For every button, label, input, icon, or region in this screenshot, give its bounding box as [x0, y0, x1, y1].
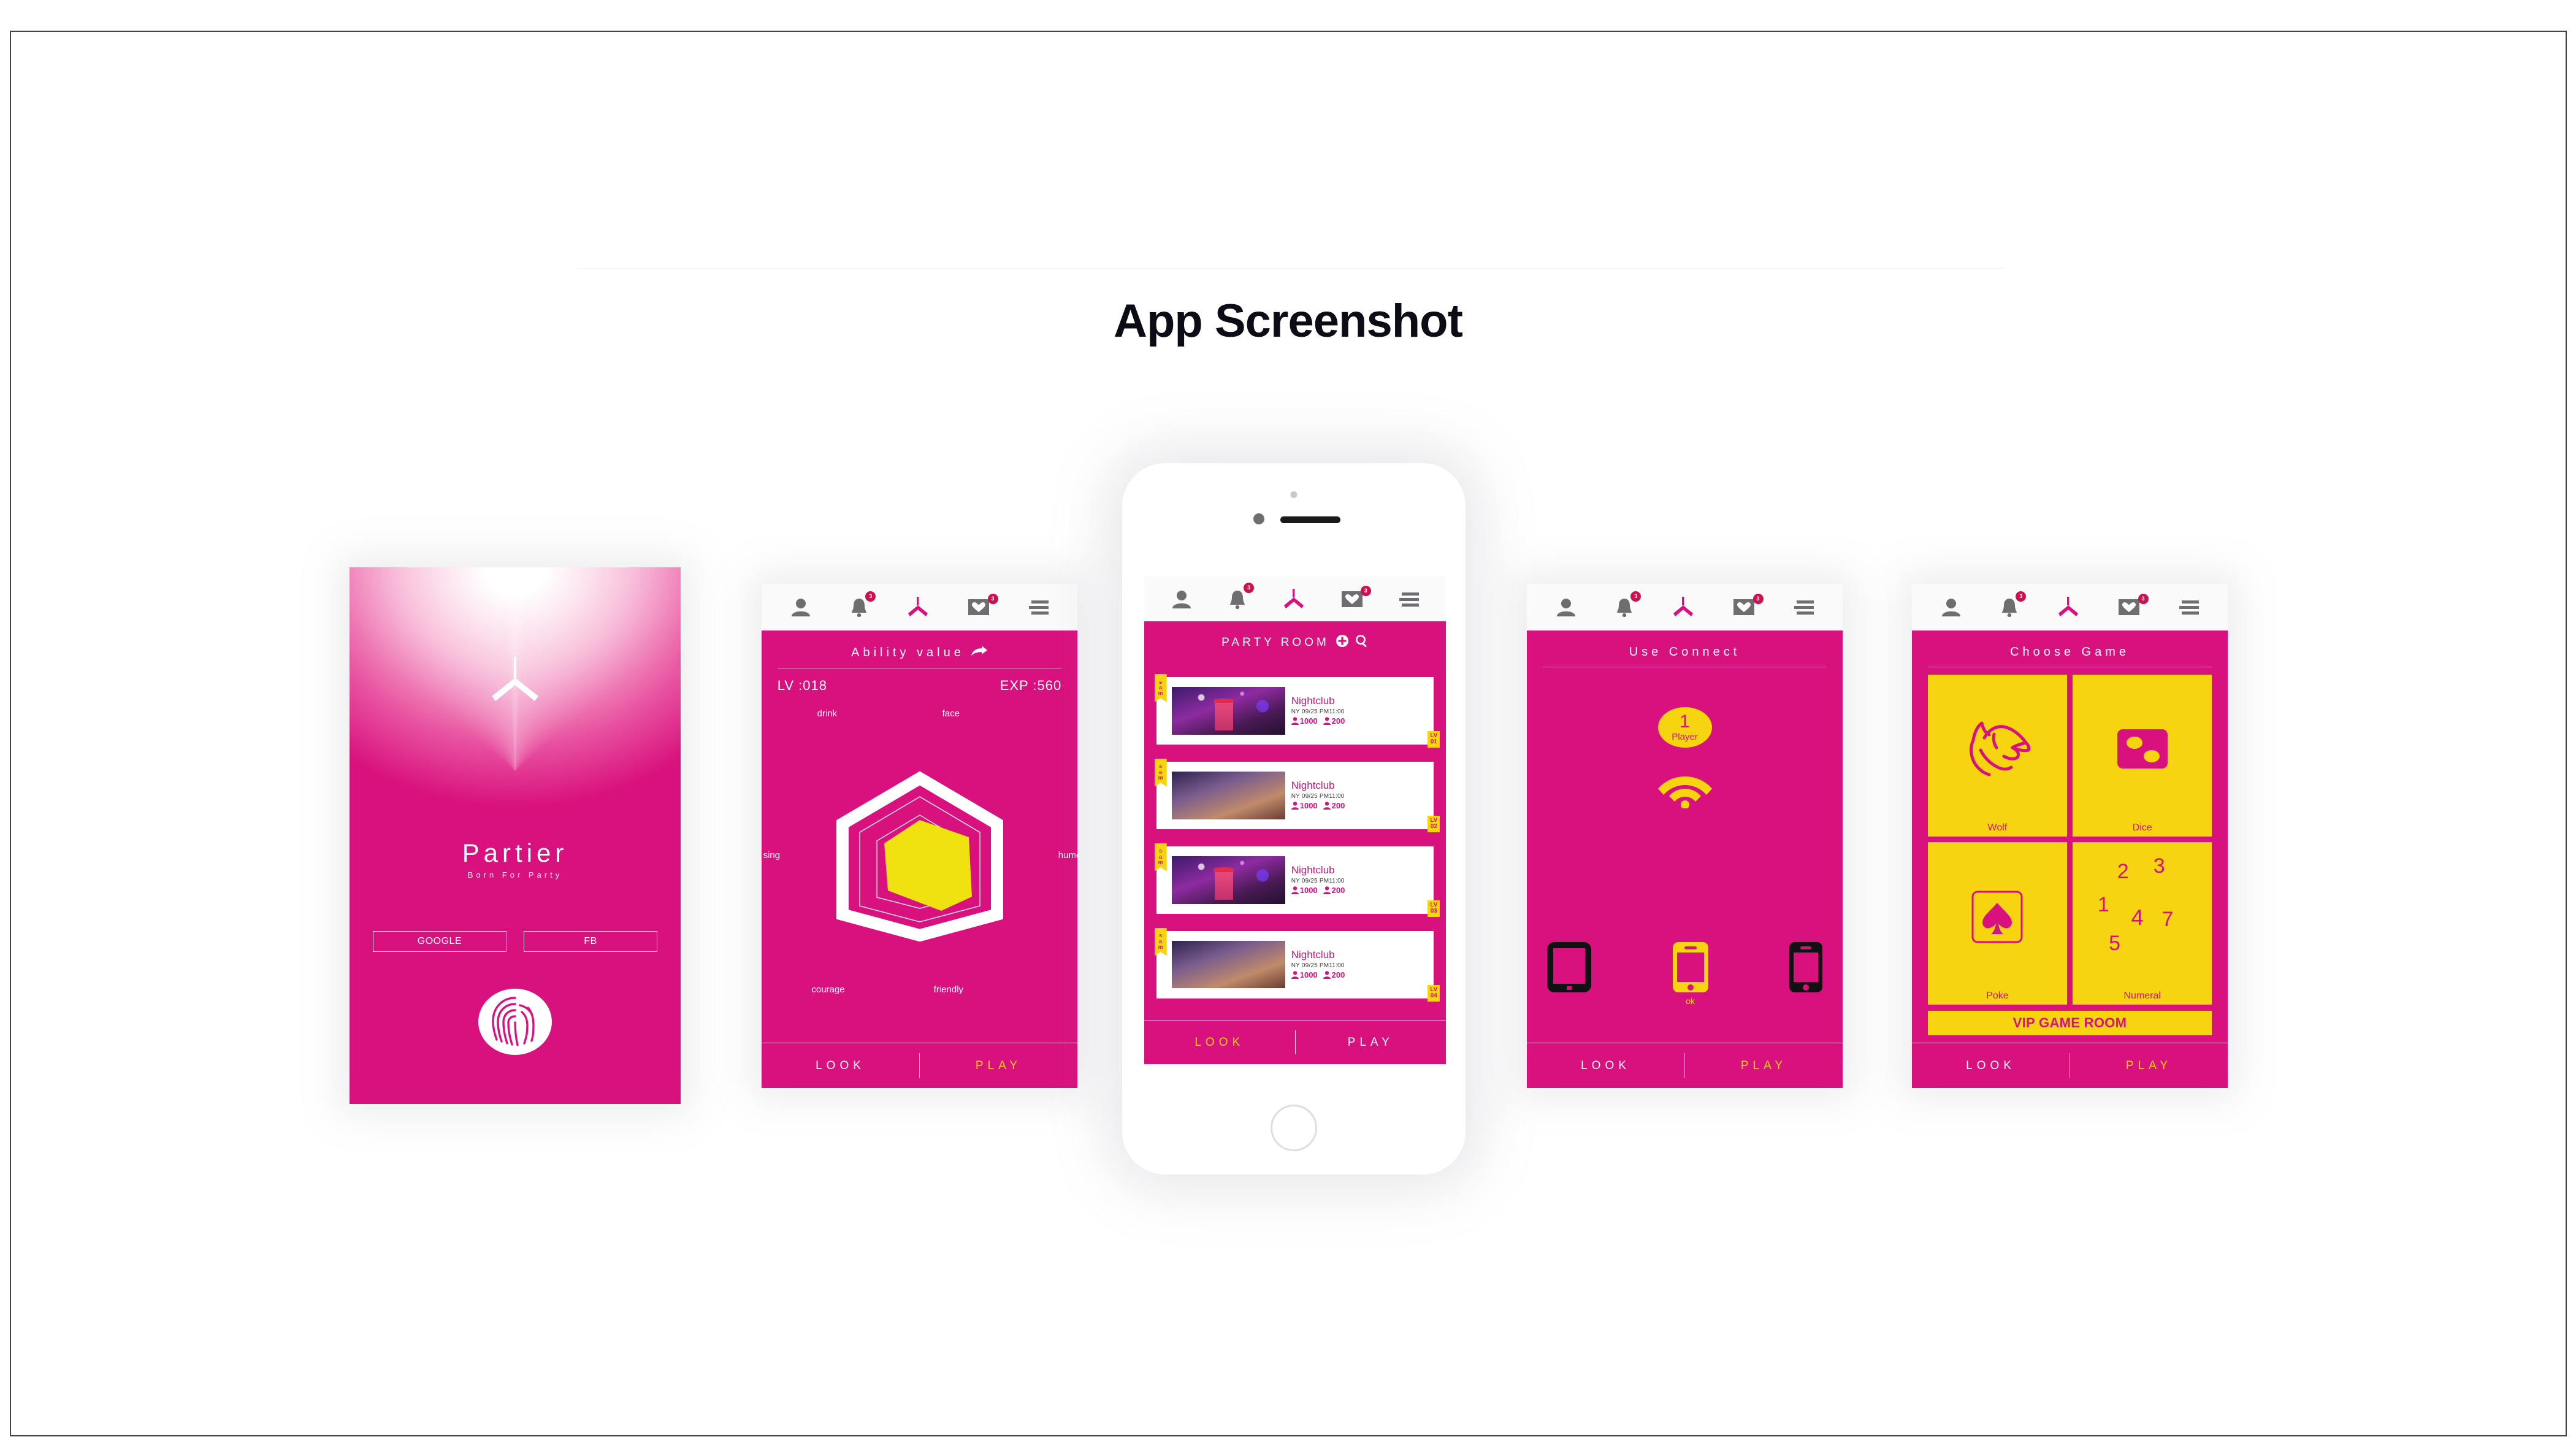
player-count-bubble: 1 Player: [1658, 707, 1712, 748]
partier-logo-icon[interactable]: [2057, 597, 2080, 618]
room-name: Nightclub: [1291, 949, 1434, 961]
bottom-action-bar: LOOK PLAY: [762, 1043, 1077, 1088]
room-joined: 200: [1323, 970, 1345, 979]
room-info: Nightclub NY 09/25 PM11:00 1000 200: [1285, 696, 1434, 726]
level-number: 02: [1430, 824, 1437, 830]
room-level-tag: LV 04: [1428, 985, 1440, 1002]
radar-svg: [816, 765, 1024, 949]
joined-value: 200: [1332, 886, 1345, 895]
hamburger-menu-icon[interactable]: [1028, 599, 1049, 615]
page-heading: PARTY ROOM: [1221, 636, 1329, 650]
ribbon-l3: m: [1158, 691, 1163, 696]
game-tile-dice[interactable]: Dice: [2073, 675, 2212, 837]
bottom-action-bar: LOOK PLAY: [1912, 1043, 2228, 1088]
room-joined: 200: [1323, 716, 1345, 726]
device-option-tablet[interactable]: [1546, 941, 1592, 1006]
profile-icon[interactable]: [1171, 590, 1192, 608]
bell-icon[interactable]: 3: [1615, 597, 1634, 617]
room-name: Nightclub: [1291, 696, 1434, 707]
room-stats: 1000 200: [1291, 886, 1434, 895]
device-label: [1805, 996, 1807, 1006]
use-connect-title: Use Connect: [1543, 642, 1827, 664]
message-badge: 3: [1361, 586, 1371, 596]
message-badge: 3: [2138, 594, 2149, 604]
phone-screen-login: Partier Born For Party GOOGLE FB: [350, 567, 681, 1104]
tablet-icon: [1546, 941, 1592, 994]
party-room-card[interactable]: sam Nightclub NY 09/25 PM11:00 1000: [1156, 762, 1434, 829]
phone-icon: [1788, 941, 1824, 994]
game-label: Numeral: [2123, 991, 2160, 1002]
use-connect-screen: 3 3 Use Connect 1 Player: [1527, 584, 1843, 1088]
room-capacity: 1000: [1291, 716, 1318, 726]
profile-icon[interactable]: [1941, 598, 1962, 616]
party-room-title-row: PARTY ROOM: [1156, 631, 1434, 656]
party-room-screen: 3 3 PARTY ROOM: [1144, 577, 1446, 1064]
person-icon: [1291, 886, 1299, 894]
top-nav-bar: 3 3: [1144, 577, 1446, 621]
play-button[interactable]: PLAY: [1296, 1036, 1447, 1049]
device-ok-label: ok: [1686, 996, 1695, 1006]
earpiece-speaker: [1280, 516, 1340, 523]
numeral-7: 7: [2161, 908, 2173, 932]
choose-game-body: Choose Game: [1912, 631, 2228, 1043]
ability-body: Ability value LV :018 EXP :560 drink fac…: [762, 631, 1077, 1043]
room-thumbnail: [1172, 772, 1285, 819]
person-icon: [1323, 886, 1331, 894]
message-heart-icon[interactable]: 3: [1733, 599, 1754, 615]
game-label: Dice: [2133, 823, 2152, 834]
bell-icon[interactable]: 3: [2000, 597, 2019, 617]
person-icon: [1323, 802, 1331, 810]
phone-screen-choose-game: 3 3 Choose Game: [1912, 584, 2228, 1088]
search-icon[interactable]: [1355, 634, 1369, 651]
game-tile-numeral[interactable]: 1 2 3 4 5 7 Numeral: [2073, 842, 2212, 1005]
google-login-button[interactable]: GOOGLE: [373, 931, 506, 952]
phone-icon: [1672, 941, 1710, 994]
choose-game-title: Choose Game: [1928, 642, 2212, 664]
radar-label-friendly: friendly: [934, 984, 963, 995]
title-divider: [778, 669, 1062, 669]
use-connect-body: Use Connect 1 Player: [1527, 631, 1843, 1043]
room-info: Nightclub NY 09/25 PM11:00 1000 200: [1285, 865, 1434, 895]
look-button[interactable]: LOOK: [762, 1059, 919, 1073]
brand-tagline: Born For Party: [350, 870, 681, 880]
sam-ribbon: sam: [1155, 843, 1167, 872]
plus-circle-icon[interactable]: [1336, 634, 1349, 651]
room-capacity: 1000: [1291, 970, 1318, 979]
capacity-value: 1000: [1300, 886, 1318, 895]
phone-screen-party-room: 3 3 PARTY ROOM: [1144, 577, 1446, 1064]
sam-ribbon: sam: [1155, 674, 1167, 702]
share-arrow-icon[interactable]: [971, 645, 988, 661]
top-nav-bar: 3 3: [762, 584, 1077, 631]
oauth-buttons: GOOGLE FB: [373, 931, 657, 952]
person-icon: [1291, 971, 1299, 979]
game-tile-poke[interactable]: Poke: [1928, 842, 2067, 1005]
fingerprint-icon[interactable]: [476, 983, 554, 1064]
bell-badge: 3: [2016, 591, 2026, 602]
bell-badge: 3: [1244, 583, 1254, 593]
ability-title-row: Ability value: [778, 642, 1062, 666]
radar-label-drink: drink: [817, 708, 838, 719]
room-thumbnail: [1172, 856, 1285, 904]
numeral-1: 1: [2098, 893, 2109, 917]
device-option-phone-selected[interactable]: ok: [1672, 941, 1710, 1006]
ability-radar-chart: drink face sing humor courage friendly: [778, 699, 1062, 1043]
spade-card-icon: [1928, 842, 2067, 991]
room-capacity: 1000: [1291, 886, 1318, 895]
look-button[interactable]: LOOK: [1144, 1036, 1295, 1049]
room-name: Nightclub: [1291, 780, 1434, 792]
room-meta: NY 09/25 PM11:00: [1291, 708, 1434, 715]
ability-screen: 3 3 Ability value LV :018: [762, 584, 1077, 1088]
room-capacity: 1000: [1291, 801, 1318, 810]
page-heading: Ability value: [851, 646, 965, 660]
room-name: Nightclub: [1291, 865, 1434, 876]
party-room-card[interactable]: sam Nightclub NY 09/25 PM11:00 1000: [1156, 677, 1434, 745]
message-heart-icon[interactable]: 3: [968, 599, 989, 615]
profile-icon[interactable]: [790, 598, 811, 616]
room-stats: 1000 200: [1291, 716, 1434, 726]
player-label: Player: [1672, 732, 1698, 742]
sam-ribbon: sam: [1155, 759, 1167, 787]
level-row: LV :018 EXP :560: [778, 678, 1062, 694]
game-tile-wolf[interactable]: Wolf: [1928, 675, 2067, 837]
room-meta: NY 09/25 PM11:00: [1291, 878, 1434, 884]
play-button[interactable]: PLAY: [2070, 1059, 2228, 1073]
message-heart-icon[interactable]: 3: [2119, 599, 2139, 615]
partier-logo-icon[interactable]: [906, 597, 930, 618]
exp-value: EXP :560: [1000, 678, 1062, 694]
person-icon: [1291, 717, 1299, 725]
title-divider: [1543, 667, 1827, 667]
partier-logo-icon: [487, 653, 543, 713]
person-icon: [1323, 971, 1331, 979]
wolf-head-icon: [1928, 675, 2067, 824]
bell-badge: 3: [865, 591, 876, 602]
title-divider: [1928, 667, 2212, 667]
party-room-list: sam Nightclub NY 09/25 PM11:00 1000: [1156, 656, 1434, 1021]
radar-label-sing: sing: [763, 850, 781, 860]
partier-logo-icon[interactable]: [1282, 589, 1305, 610]
player-count: 1: [1680, 713, 1690, 731]
dice-icon: [2073, 675, 2212, 824]
capacity-value: 1000: [1300, 801, 1318, 810]
room-thumbnail: [1172, 687, 1285, 735]
proximity-sensor-icon: [1253, 513, 1264, 524]
brand-name: Partier: [350, 838, 681, 868]
person-icon: [1323, 717, 1331, 725]
vip-game-room-button[interactable]: VIP GAME ROOM: [1928, 1011, 2212, 1035]
hamburger-menu-icon[interactable]: [1793, 599, 1814, 615]
wifi-icon: [1657, 770, 1713, 811]
room-level-tag: LV 01: [1428, 731, 1440, 748]
room-level-tag: LV 02: [1428, 816, 1440, 832]
game-label: Poke: [1986, 991, 2008, 1002]
device-selector: ok: [1546, 941, 1824, 1006]
capacity-value: 1000: [1300, 716, 1318, 726]
joined-value: 200: [1332, 970, 1345, 979]
front-camera-icon: [1291, 491, 1298, 498]
room-meta: NY 09/25 PM11:00: [1291, 962, 1434, 969]
top-nav-bar: 3 3: [1527, 584, 1843, 631]
play-button[interactable]: PLAY: [920, 1059, 1077, 1073]
device-option-phone[interactable]: [1788, 941, 1824, 1006]
joined-value: 200: [1332, 801, 1345, 810]
bell-icon[interactable]: 3: [1228, 589, 1247, 609]
radar-label-face: face: [942, 708, 960, 719]
game-grid: Wolf Dice: [1928, 675, 2212, 1005]
capacity-value: 1000: [1300, 970, 1318, 979]
level-number: 01: [1430, 739, 1437, 746]
party-room-body: PARTY ROOM sam Nightclub NY 09/25 PM: [1144, 621, 1446, 1020]
bell-badge: 3: [1630, 591, 1641, 602]
level-number: 04: [1430, 993, 1437, 1000]
fb-login-button[interactable]: FB: [524, 931, 657, 952]
room-meta: NY 09/25 PM11:00: [1291, 793, 1434, 800]
level-number: 03: [1430, 908, 1437, 915]
numeral-3: 3: [2154, 854, 2165, 878]
room-level-tag: LV 03: [1428, 900, 1440, 917]
top-nav-bar: 3 3: [1912, 584, 2228, 631]
device-label: [1568, 996, 1570, 1006]
room-joined: 200: [1323, 886, 1345, 895]
brand-block: Partier Born For Party: [350, 838, 681, 880]
joined-value: 200: [1332, 716, 1345, 726]
message-heart-icon[interactable]: 3: [1342, 591, 1363, 607]
room-stats: 1000 200: [1291, 801, 1434, 810]
bottom-action-bar: LOOK PLAY: [1144, 1020, 1446, 1064]
login-screen: Partier Born For Party GOOGLE FB: [350, 567, 681, 1104]
look-button[interactable]: LOOK: [1912, 1059, 2070, 1073]
radar-label-humor: humor: [1058, 850, 1077, 860]
numeral-4: 4: [2131, 905, 2143, 930]
hamburger-menu-icon[interactable]: [1398, 591, 1419, 607]
phone-screen-use-connect: 3 3 Use Connect 1 Player: [1527, 584, 1843, 1088]
level-value: LV :018: [778, 678, 827, 694]
party-room-card[interactable]: sam Nightclub NY 09/25 PM11:00 1000: [1156, 846, 1434, 914]
message-badge: 3: [1753, 594, 1764, 604]
room-info: Nightclub NY 09/25 PM11:00 1000 200: [1285, 780, 1434, 810]
room-joined: 200: [1323, 801, 1345, 810]
page-title: App Screenshot: [0, 294, 2576, 348]
play-button[interactable]: PLAY: [1685, 1059, 1843, 1073]
partier-logo-icon[interactable]: [1672, 597, 1695, 618]
numeral-cluster: 1 2 3 4 5 7: [2073, 842, 2212, 991]
game-label: Wolf: [1988, 823, 2008, 834]
message-badge: 3: [988, 594, 998, 604]
room-thumbnail: [1172, 941, 1285, 989]
hamburger-menu-icon[interactable]: [2178, 599, 2199, 615]
person-icon: [1291, 802, 1299, 810]
look-button[interactable]: LOOK: [1527, 1059, 1684, 1073]
room-stats: 1000 200: [1291, 970, 1434, 979]
numeral-2: 2: [2117, 860, 2129, 884]
choose-game-screen: 3 3 Choose Game: [1912, 584, 2228, 1088]
phone-screen-ability: 3 3 Ability value LV :018: [762, 584, 1077, 1088]
numeral-5: 5: [2109, 932, 2120, 956]
title-divider: [576, 268, 2005, 269]
room-info: Nightclub NY 09/25 PM11:00 1000 200: [1285, 949, 1434, 979]
bell-icon[interactable]: 3: [850, 597, 868, 617]
profile-icon[interactable]: [1556, 598, 1577, 616]
login-background: Partier Born For Party GOOGLE FB: [350, 567, 681, 1104]
home-button[interactable]: [1271, 1105, 1317, 1151]
radar-label-courage: courage: [811, 984, 844, 995]
sam-ribbon: sam: [1155, 928, 1167, 956]
bottom-action-bar: LOOK PLAY: [1527, 1043, 1843, 1088]
party-room-card[interactable]: sam Nightclub NY 09/25 PM11:00 1000: [1156, 931, 1434, 998]
numeral-icon: 1 2 3 4 5 7: [2073, 842, 2212, 991]
